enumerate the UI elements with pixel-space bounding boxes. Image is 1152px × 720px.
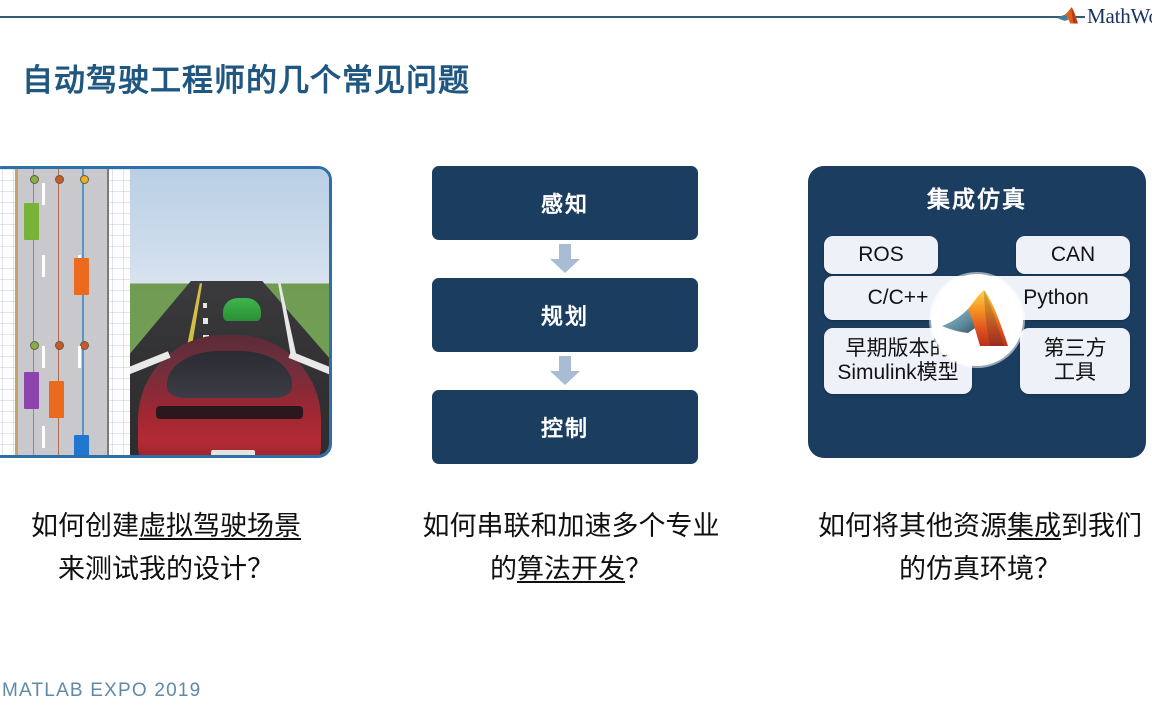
scenario-lane-dash bbox=[78, 346, 81, 368]
mathworks-membrane-icon bbox=[1056, 6, 1082, 28]
scenario-vehicle-orange-1 bbox=[74, 258, 89, 295]
footer-event-label: MATLAB EXPO 2019 bbox=[2, 680, 201, 702]
sim-center-dash bbox=[203, 318, 208, 324]
caption-workflow-line2-pre: 的 bbox=[490, 554, 517, 584]
caption-scenario-line2: 来测试我的设计？ bbox=[0, 548, 349, 591]
mathworks-wordmark: MathWo bbox=[1087, 4, 1152, 29]
workflow-box-perception[interactable]: 感知 bbox=[432, 166, 698, 240]
workflow-arrow-1 bbox=[432, 240, 698, 278]
column-workflow: 感知 规划 控制 bbox=[432, 166, 698, 464]
page-title: 自动驾驶工程师的几个常见问题 bbox=[22, 55, 470, 100]
chip-third-party-tools[interactable]: 第三方 工具 bbox=[1020, 328, 1130, 394]
scenario-waypoint-green-2 bbox=[30, 341, 39, 350]
caption-scenario-keyword: 虚拟驾驶场景 bbox=[139, 511, 301, 541]
header-divider bbox=[0, 16, 1085, 18]
scenario-waypoint-green-1 bbox=[30, 175, 39, 184]
integration-chip-row-1: ROS CAN bbox=[824, 236, 1130, 274]
caption-workflow: 如何串联和加速多个专业 的算法开发？ bbox=[388, 505, 754, 590]
scenario-waypoint-yellow-1 bbox=[80, 175, 89, 184]
column-integration: 集成仿真 ROS CAN C/C++ Python 早期版本的 Simulink… bbox=[808, 166, 1146, 458]
scenario-vehicle-orange-2 bbox=[49, 381, 64, 418]
workflow-box-planning[interactable]: 规划 bbox=[432, 278, 698, 352]
scenario-image-panel bbox=[0, 166, 332, 458]
caption-scenario-line1-pre: 如何创建 bbox=[31, 511, 139, 541]
scenario-waypoint-orange-2 bbox=[55, 341, 64, 350]
caption-integration-line1-post: 到我们 bbox=[1061, 511, 1142, 541]
sim-lead-vehicle-green bbox=[223, 298, 261, 321]
scenario-vehicle-blue bbox=[74, 435, 89, 458]
caption-integration-keyword: 集成 bbox=[1007, 511, 1061, 541]
integration-panel-title: 集成仿真 bbox=[824, 180, 1130, 214]
matlab-membrane-icon bbox=[940, 288, 1014, 352]
workflow-arrow-2 bbox=[432, 352, 698, 390]
caption-integration: 如何将其他资源集成到我们 的仿真环境？ bbox=[780, 505, 1152, 590]
scenario-lane-dash bbox=[42, 426, 45, 448]
slide-root: MathWo 自动驾驶工程师的几个常见问题 bbox=[0, 0, 1152, 720]
caption-workflow-line2-post: ？ bbox=[625, 554, 652, 584]
mathworks-logo: MathWo bbox=[1056, 4, 1152, 29]
chip-legacy-simulink-line2: Simulink模型 bbox=[837, 361, 958, 385]
scenario-waypoint-orange-1 bbox=[55, 175, 64, 184]
scenario-vehicle-purple bbox=[24, 372, 39, 409]
integration-panel: 集成仿真 ROS CAN C/C++ Python 早期版本的 Simulink… bbox=[808, 166, 1146, 458]
matlab-logo-badge bbox=[931, 274, 1023, 366]
scenario-lane-dash bbox=[42, 346, 45, 368]
chip-third-party-line1: 第三方 bbox=[1044, 337, 1107, 361]
sim-center-dash bbox=[203, 303, 207, 308]
scenario-vehicle-green bbox=[24, 203, 39, 240]
caption-workflow-line2: 的算法开发？ bbox=[388, 548, 754, 591]
caption-integration-line1-pre: 如何将其他资源 bbox=[818, 511, 1007, 541]
caption-workflow-keyword: 算法开发 bbox=[517, 554, 625, 584]
workflow-box-control[interactable]: 控制 bbox=[432, 390, 698, 464]
chip-can[interactable]: CAN bbox=[1016, 236, 1130, 274]
sim-ego-rear-window bbox=[167, 351, 292, 398]
simulation-3d-view bbox=[130, 169, 329, 455]
chip-ros[interactable]: ROS bbox=[824, 236, 938, 274]
scenario-lane-dash bbox=[42, 183, 45, 205]
chip-third-party-line2: 工具 bbox=[1044, 361, 1107, 385]
column-scenario bbox=[0, 166, 332, 458]
caption-integration-line1: 如何将其他资源集成到我们 bbox=[780, 505, 1152, 548]
scenario-track-blue bbox=[82, 169, 84, 455]
caption-integration-line2: 的仿真环境？ bbox=[780, 548, 1152, 591]
caption-scenario-line1: 如何创建虚拟驾驶场景 bbox=[0, 505, 349, 548]
arrow-down-icon bbox=[548, 356, 582, 386]
caption-scenario: 如何创建虚拟驾驶场景 来测试我的设计？ bbox=[0, 505, 349, 590]
driving-scenario-designer-view bbox=[0, 169, 130, 455]
arrow-down-icon bbox=[548, 244, 582, 274]
sim-ego-license-plate bbox=[211, 450, 255, 455]
sim-ego-vehicle-red bbox=[138, 335, 321, 455]
sim-ego-taillight-bar bbox=[156, 406, 303, 418]
caption-workflow-line1: 如何串联和加速多个专业 bbox=[388, 505, 754, 548]
scenario-lane-dash bbox=[42, 255, 45, 277]
